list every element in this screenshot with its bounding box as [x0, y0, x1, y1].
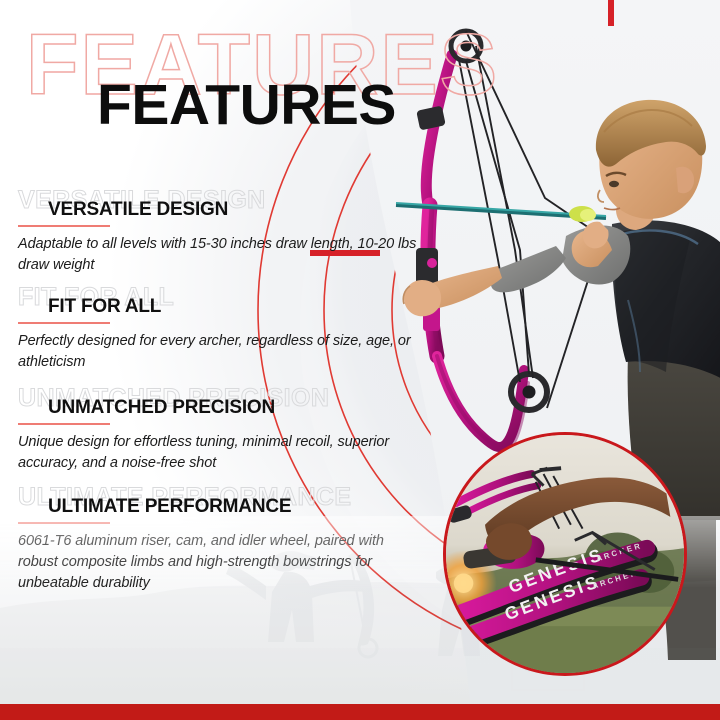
feature-description: Adaptable to all levels with 15-30 inche… [18, 234, 418, 276]
feature-heading: FIT FOR ALL [48, 297, 420, 318]
feature-block-unmatched-precision: UNMATCHED PRECISION UNMATCHED PRECISION … [0, 398, 420, 419]
feature-block-versatile-design: VERSATILE DESIGN VERSATILE DESIGN Adapta… [0, 200, 420, 221]
vertical-tick-marker [608, 0, 614, 26]
feature-block-fit-for-all: FIT FOR ALL FIT FOR ALL Perfectly design… [0, 297, 420, 318]
feature-description: Unique design for effortless tuning, min… [18, 432, 418, 474]
page-title: FEATURES [97, 77, 396, 134]
bow-detail-inset: GENESIS ARCHERY GENESIS ARCHERY [443, 432, 687, 676]
feature-underline-rule [18, 423, 110, 425]
feature-heading: ULTIMATE PERFORMANCE [48, 497, 420, 518]
infographic-canvas: FEATURES FEATURES VERSATILE DESIGN VERSA… [0, 0, 720, 720]
feature-underline-rule [18, 225, 110, 227]
feature-heading: VERSATILE DESIGN [48, 200, 420, 221]
feature-underline-rule [18, 322, 110, 324]
feature-description: Perfectly designed for every archer, reg… [18, 331, 418, 373]
footer-accent-bar [0, 704, 720, 720]
feature-block-ultimate-performance: ULTIMATE PERFORMANCE ULTIMATE PERFORMANC… [0, 497, 420, 518]
feature-heading: UNMATCHED PRECISION [48, 398, 420, 419]
